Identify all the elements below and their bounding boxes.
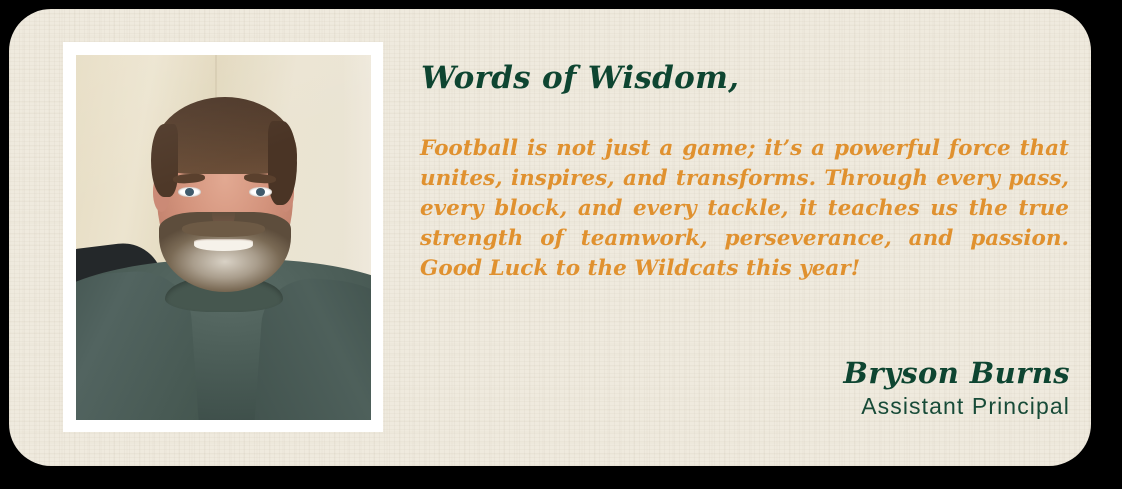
portrait-photo [76,55,371,420]
screenshot-root: Words of Wisdom, Football is not just a … [0,0,1122,489]
photo-hair-left-side [151,124,178,197]
signature-name: Bryson Burns [430,356,1070,390]
photo-mustache [182,221,265,237]
photo-hair-right-side [268,121,298,205]
signature-role: Assistant Principal [430,392,1070,420]
page-title: Words of Wisdom, [421,60,739,96]
words-of-wisdom-card: Words of Wisdom, Football is not just a … [9,9,1091,466]
signature-block: Bryson Burns Assistant Principal [430,356,1070,420]
photo-mouth [194,239,253,251]
quote-text: Football is not just a game; it’s a powe… [420,134,1069,284]
card-text-content: Words of Wisdom, Football is not just a … [419,9,1071,466]
portrait-photo-frame [63,42,383,432]
